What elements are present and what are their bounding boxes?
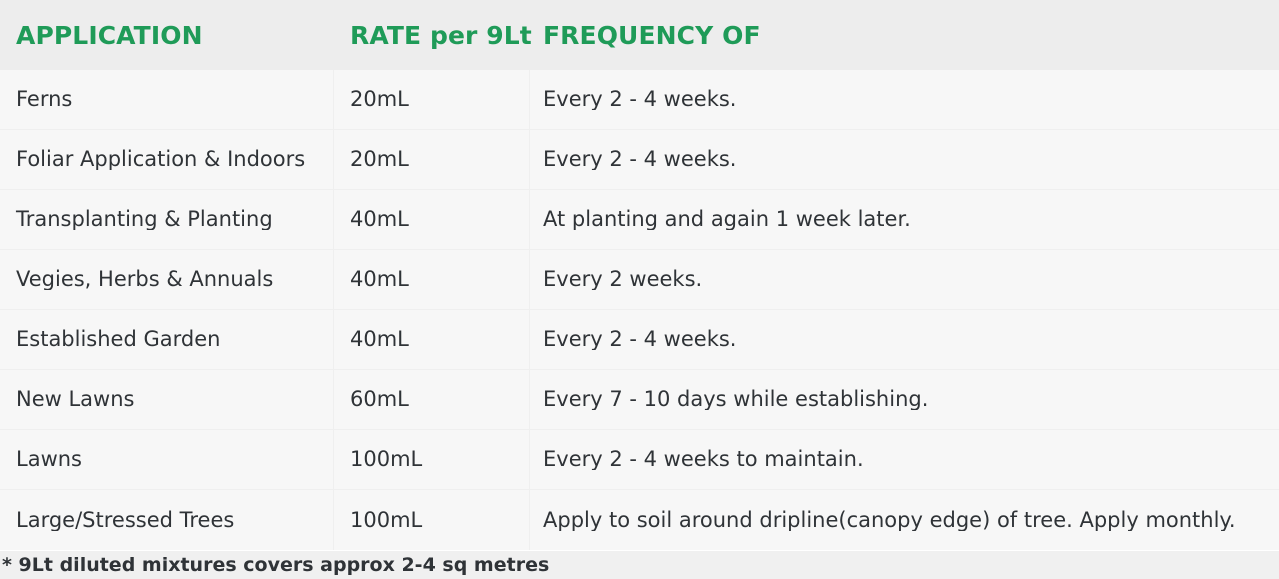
table-row: Transplanting & Planting 40mL At plantin… — [0, 190, 1279, 250]
table-body: Ferns 20mL Every 2 - 4 weeks. Foliar App… — [0, 70, 1279, 550]
table-row: Lawns 100mL Every 2 - 4 weeks to maintai… — [0, 430, 1279, 490]
cell-frequency: Every 2 - 4 weeks to maintain. — [529, 449, 1279, 470]
cell-application: Large/Stressed Trees — [0, 510, 333, 531]
cell-application: Transplanting & Planting — [0, 209, 333, 230]
cell-frequency: Every 7 - 10 days while establishing. — [529, 389, 1279, 410]
column-header-frequency: FREQUENCY OF — [529, 23, 1279, 48]
cell-frequency: At planting and again 1 week later. — [529, 209, 1279, 230]
table-row: Foliar Application & Indoors 20mL Every … — [0, 130, 1279, 190]
cell-application: Vegies, Herbs & Annuals — [0, 269, 333, 290]
cell-application: New Lawns — [0, 389, 333, 410]
table-header-row: APPLICATION RATE per 9Lt FREQUENCY OF — [0, 0, 1279, 70]
cell-application: Established Garden — [0, 329, 333, 350]
cell-rate: 100mL — [333, 449, 529, 470]
cell-application: Ferns — [0, 89, 333, 110]
cell-application: Lawns — [0, 449, 333, 470]
cell-frequency: Apply to soil around dripline(canopy edg… — [529, 510, 1279, 531]
column-header-application: APPLICATION — [0, 23, 333, 48]
cell-rate: 100mL — [333, 510, 529, 531]
cell-rate: 40mL — [333, 269, 529, 290]
table-row: Vegies, Herbs & Annuals 40mL Every 2 wee… — [0, 250, 1279, 310]
column-header-rate: RATE per 9Lt — [333, 23, 529, 48]
table-row: Large/Stressed Trees 100mL Apply to soil… — [0, 490, 1279, 550]
application-rate-table: APPLICATION RATE per 9Lt FREQUENCY OF Fe… — [0, 0, 1279, 576]
footnote-text: * 9Lt diluted mixtures covers approx 2-4… — [2, 556, 549, 575]
table-footer: * 9Lt diluted mixtures covers approx 2-4… — [0, 550, 1279, 579]
table-row: New Lawns 60mL Every 7 - 10 days while e… — [0, 370, 1279, 430]
cell-application: Foliar Application & Indoors — [0, 149, 333, 170]
cell-frequency: Every 2 - 4 weeks. — [529, 149, 1279, 170]
cell-rate: 40mL — [333, 329, 529, 350]
cell-rate: 60mL — [333, 389, 529, 410]
table-row: Established Garden 40mL Every 2 - 4 week… — [0, 310, 1279, 370]
cell-rate: 40mL — [333, 209, 529, 230]
cell-rate: 20mL — [333, 89, 529, 110]
cell-frequency: Every 2 weeks. — [529, 269, 1279, 290]
table-row: Ferns 20mL Every 2 - 4 weeks. — [0, 70, 1279, 130]
cell-frequency: Every 2 - 4 weeks. — [529, 329, 1279, 350]
cell-frequency: Every 2 - 4 weeks. — [529, 89, 1279, 110]
cell-rate: 20mL — [333, 149, 529, 170]
